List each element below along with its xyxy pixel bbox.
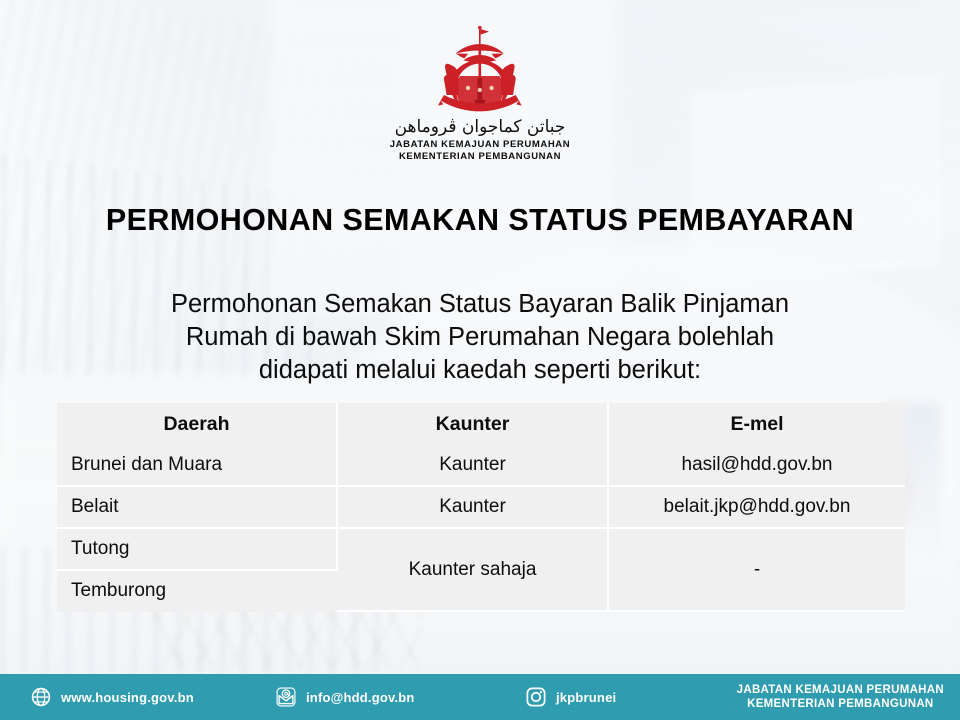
envelope-at-icon [275,686,297,708]
subtitle-line-1: Permohonan Semakan Status Bayaran Balik … [88,288,872,321]
footer-department: JABATAN KEMAJUAN PERUMAHAN KEMENTERIAN P… [737,683,944,711]
cell-emel: hasil@hdd.gov.bn [608,445,905,486]
footer-instagram[interactable]: jkpbrunei [525,686,616,708]
cell-kaunter-merged: Kaunter sahaja [337,528,608,611]
logo-line2: KEMENTERIAN PEMBANGUNAN [399,151,561,163]
brunei-coat-of-arms-icon [427,26,533,118]
cell-daerah: Temburong [57,570,337,611]
page-title: PERMOHONAN SEMAKAN STATUS PEMBAYARAN [0,203,960,238]
table-row: Tutong Kaunter sahaja - [57,528,905,570]
table-row: Brunei dan Muara Kaunter hasil@hdd.gov.b… [57,445,905,486]
instagram-icon [525,686,547,708]
cell-emel: belait.jkp@hdd.gov.bn [608,486,905,528]
subtitle-line-3: didapati melalui kaedah seperti berikut: [88,354,872,387]
subtitle-paragraph: Permohonan Semakan Status Bayaran Balik … [88,288,872,387]
footer-department-line1: JABATAN KEMAJUAN PERUMAHAN [737,683,944,697]
info-table-wrapper: Daerah Kaunter E-mel Brunei dan Muara Ka… [57,403,905,612]
table-header-emel: E-mel [608,403,905,445]
table-row: Belait Kaunter belait.jkp@hdd.gov.bn [57,486,905,528]
table-header-row: Daerah Kaunter E-mel [57,403,905,445]
subtitle-line-2: Rumah di bawah Skim Perumahan Negara bol… [88,321,872,354]
organisation-logo: جباتن كماجوان ڤروماهن JABATAN KEMAJUAN P… [0,26,960,163]
logo-jawi-text: جباتن كماجوان ڤروماهن [395,119,566,136]
footer-website-text: www.housing.gov.bn [61,690,194,705]
cell-kaunter: Kaunter [337,445,608,486]
footer-email-text: info@hdd.gov.bn [306,690,415,705]
cell-emel-merged: - [608,528,905,611]
cell-daerah: Tutong [57,528,337,570]
info-table: Daerah Kaunter E-mel Brunei dan Muara Ka… [57,403,905,612]
footer-instagram-text: jkpbrunei [556,690,616,705]
table-header-kaunter: Kaunter [337,403,608,445]
cell-kaunter: Kaunter [337,486,608,528]
footer-email[interactable]: info@hdd.gov.bn [275,686,415,708]
logo-line1: JABATAN KEMAJUAN PERUMAHAN [390,139,570,151]
footer-website[interactable]: www.housing.gov.bn [30,686,194,708]
footer-bar: www.housing.gov.bn info@hdd.gov.bn jkpbr… [0,674,960,720]
footer-department-line2: KEMENTERIAN PEMBANGUNAN [737,697,944,711]
cell-daerah: Brunei dan Muara [57,445,337,486]
slide: جباتن كماجوان ڤروماهن JABATAN KEMAJUAN P… [0,0,960,720]
cell-daerah: Belait [57,486,337,528]
globe-icon [30,686,52,708]
table-header-daerah: Daerah [57,403,337,445]
